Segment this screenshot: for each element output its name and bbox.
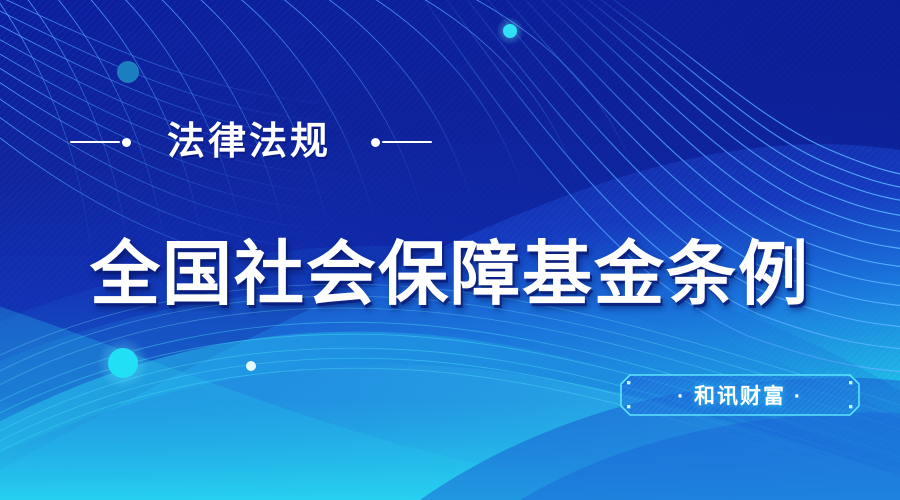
dot-line-ornament-right [371, 138, 432, 147]
brand-badge: · 和讯财富 · [620, 374, 860, 416]
ornament-dot [122, 138, 131, 147]
banner-image: 法律法规 全国社会保障基金条例 [0, 0, 900, 500]
ornament-line [382, 141, 432, 143]
ornament-dot [371, 138, 380, 147]
brand-badge-label: · 和讯财富 · [620, 374, 860, 416]
line-dot-ornament-left [70, 138, 131, 147]
eyebrow-row: 法律法规 [0, 112, 900, 172]
ornament-line [70, 141, 120, 143]
page-title: 全国社会保障基金条例 [0, 230, 900, 318]
eyebrow-label: 法律法规 [167, 123, 331, 161]
